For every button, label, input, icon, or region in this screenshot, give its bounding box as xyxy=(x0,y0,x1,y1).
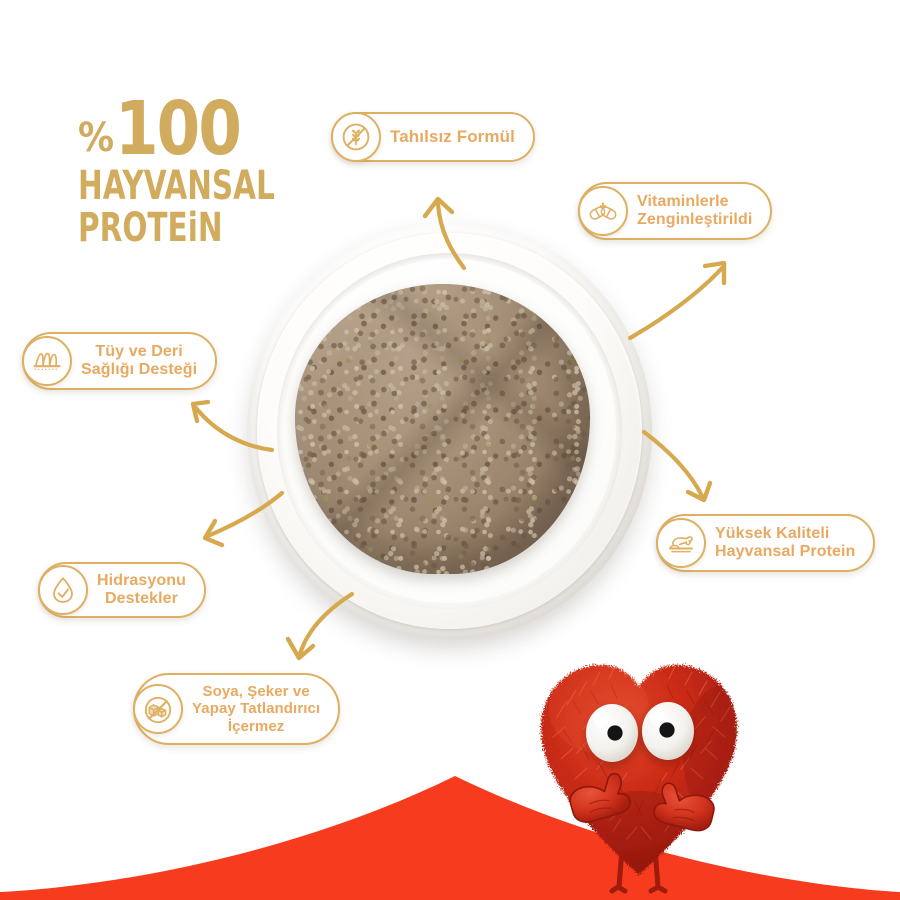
poster-canvas: % 100 HAYVANSAL PROTEiN .ar{fill:none;st… xyxy=(0,0,900,900)
vitamin-capsules-icon xyxy=(578,186,628,236)
badge-label: VitaminlerleZenginleştirildi xyxy=(637,193,752,229)
no-sugar-cubes-icon xyxy=(133,684,183,734)
red-mountain-band xyxy=(0,740,900,900)
badge-label: Yüksek KaliteliHayvansal Protein xyxy=(715,525,855,561)
badge-high-quality-protein[interactable]: Yüksek KaliteliHayvansal Protein xyxy=(656,514,875,572)
fur-skin-icon xyxy=(22,336,72,386)
pupil-left xyxy=(607,725,622,740)
arrow-to-protein xyxy=(644,432,710,500)
badge-grain-free[interactable]: Tahılsız Formül xyxy=(331,112,535,162)
badge-label: Tahılsız Formül xyxy=(390,127,515,146)
pupil-right xyxy=(659,722,674,737)
meat-on-plate-icon xyxy=(656,518,706,568)
badge-label: Tüy ve DeriSağlığı Desteği xyxy=(81,343,197,379)
no-wheat-icon xyxy=(331,112,381,162)
percent-symbol: % xyxy=(78,121,113,155)
badge-label: Soya, Şeker veYapay Tatlandırıcıİçermez xyxy=(192,683,320,734)
ground-meat-pate xyxy=(295,284,590,574)
badge-supports-hydration[interactable]: HidrasyonuDestekler xyxy=(38,562,206,618)
food-plate xyxy=(247,222,652,657)
headline-first-row: % 100 xyxy=(78,98,318,162)
badge-no-soy-sugar-sweetener[interactable]: Soya, Şeker veYapay Tatlandırıcıİçermez xyxy=(133,673,340,745)
red-mountain-shape xyxy=(0,776,900,900)
badge-vitamin-enriched[interactable]: VitaminlerleZenginleştirildi xyxy=(578,182,772,240)
water-drop-check-icon xyxy=(38,565,88,615)
badge-label: HidrasyonuDestekler xyxy=(97,572,186,608)
headline-number: 100 xyxy=(115,98,240,162)
headline-line-2: HAYVANSAL xyxy=(78,166,275,206)
headline-line-3: PROTEiN xyxy=(78,208,275,248)
badge-fur-skin-health[interactable]: Tüy ve DeriSağlığı Desteği xyxy=(22,332,217,390)
heart-mascot xyxy=(527,625,751,900)
